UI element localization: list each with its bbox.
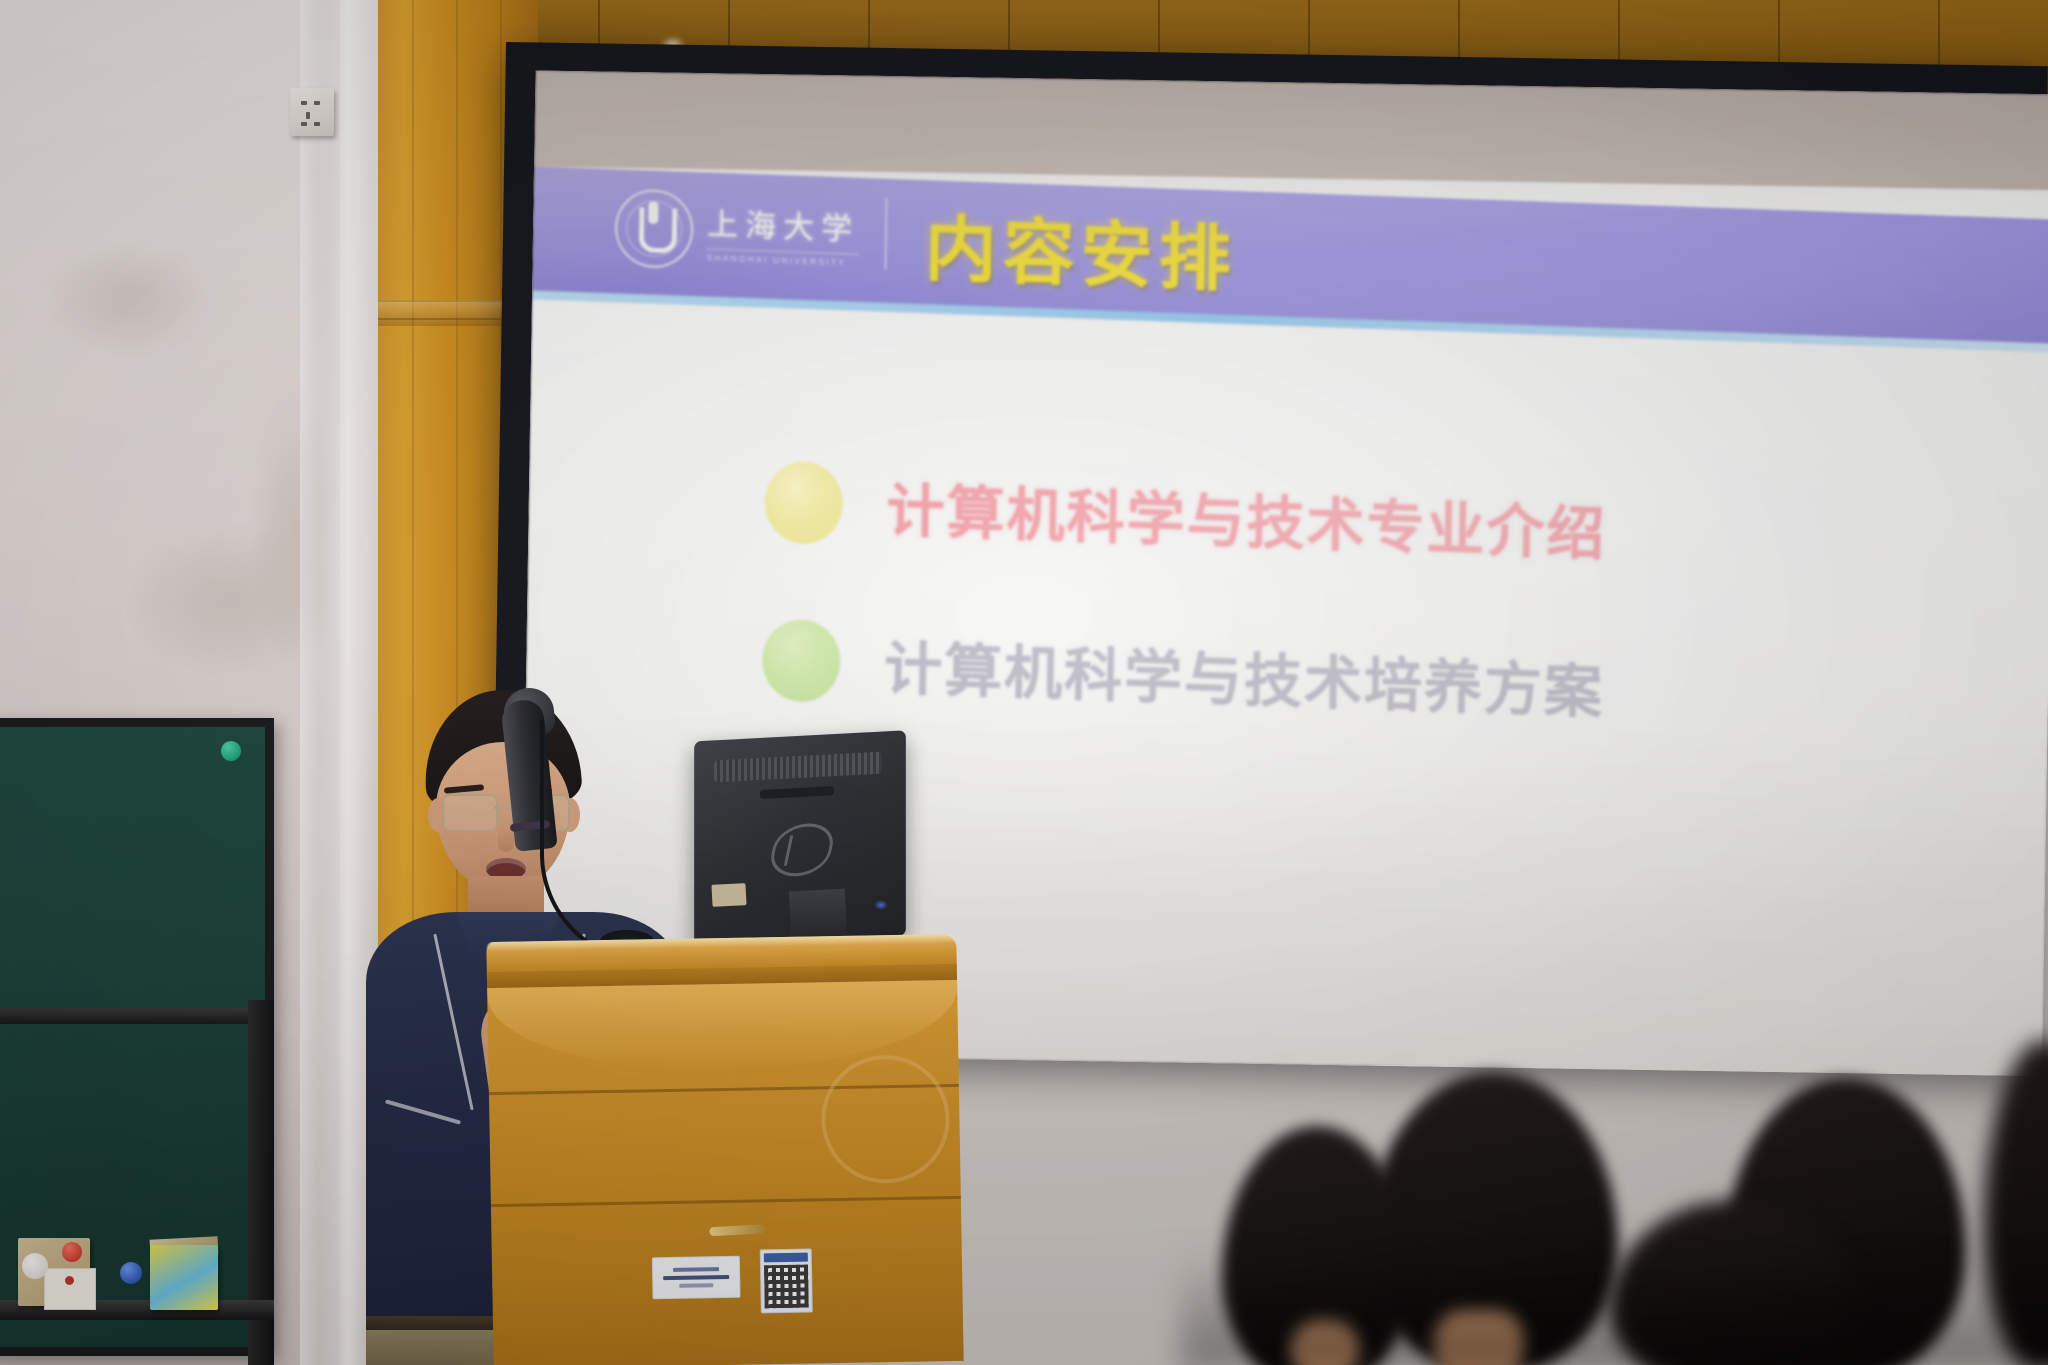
- blue-magnet-icon: [120, 1262, 142, 1284]
- chalk-box-seal-icon: [65, 1276, 74, 1285]
- chalk-stick: [22, 1253, 48, 1279]
- blackboard-rail: [0, 1008, 274, 1024]
- bullet-circle-green-icon: [762, 618, 841, 703]
- podium-asset-label: [652, 1256, 741, 1300]
- monitor-power-led-icon: [874, 900, 888, 910]
- bullet-circle-yellow-icon: [764, 460, 843, 545]
- list-item: 计算机科学与技术专业介绍: [764, 459, 1991, 584]
- monitor-stand: [789, 889, 847, 940]
- foreground-shadow: [1180, 1250, 2048, 1365]
- red-magnet-icon: [62, 1242, 82, 1262]
- bullet-text: 计算机科学与技术专业介绍: [886, 463, 1607, 571]
- green-magnet-icon: [221, 741, 241, 761]
- chalk-box-right: [150, 1245, 218, 1310]
- university-name-cn: 上海大学: [707, 199, 860, 249]
- university-name-en: SHANGHAI UNIVERSITY: [707, 249, 859, 268]
- list-item: 计算机科学与技术培养方案: [762, 617, 1989, 742]
- lecture-hall-photo: 上海大学 SHANGHAI UNIVERSITY 内容安排 计算机科学与技术专业…: [0, 0, 2048, 1365]
- bullet-text: 计算机科学与技术培养方案: [884, 621, 1605, 729]
- monitor-vent: [714, 752, 882, 783]
- su-emblem-icon: [614, 188, 693, 269]
- monitor-handle-slot: [760, 786, 834, 799]
- slide-bullet-list: 计算机科学与技术专业介绍 计算机科学与技术培养方案: [761, 459, 1991, 816]
- chalk-box-label: [44, 1268, 96, 1310]
- slide-title: 内容安排: [924, 190, 1238, 306]
- university-logo: 上海大学 SHANGHAI UNIVERSITY: [614, 179, 865, 284]
- hp-logo-icon: [767, 822, 838, 878]
- power-outlet-icon: [290, 88, 334, 136]
- monitor-asset-tag: [711, 883, 746, 907]
- lectern-podium: [486, 934, 963, 1365]
- qr-code-sticker-icon: [760, 1249, 813, 1314]
